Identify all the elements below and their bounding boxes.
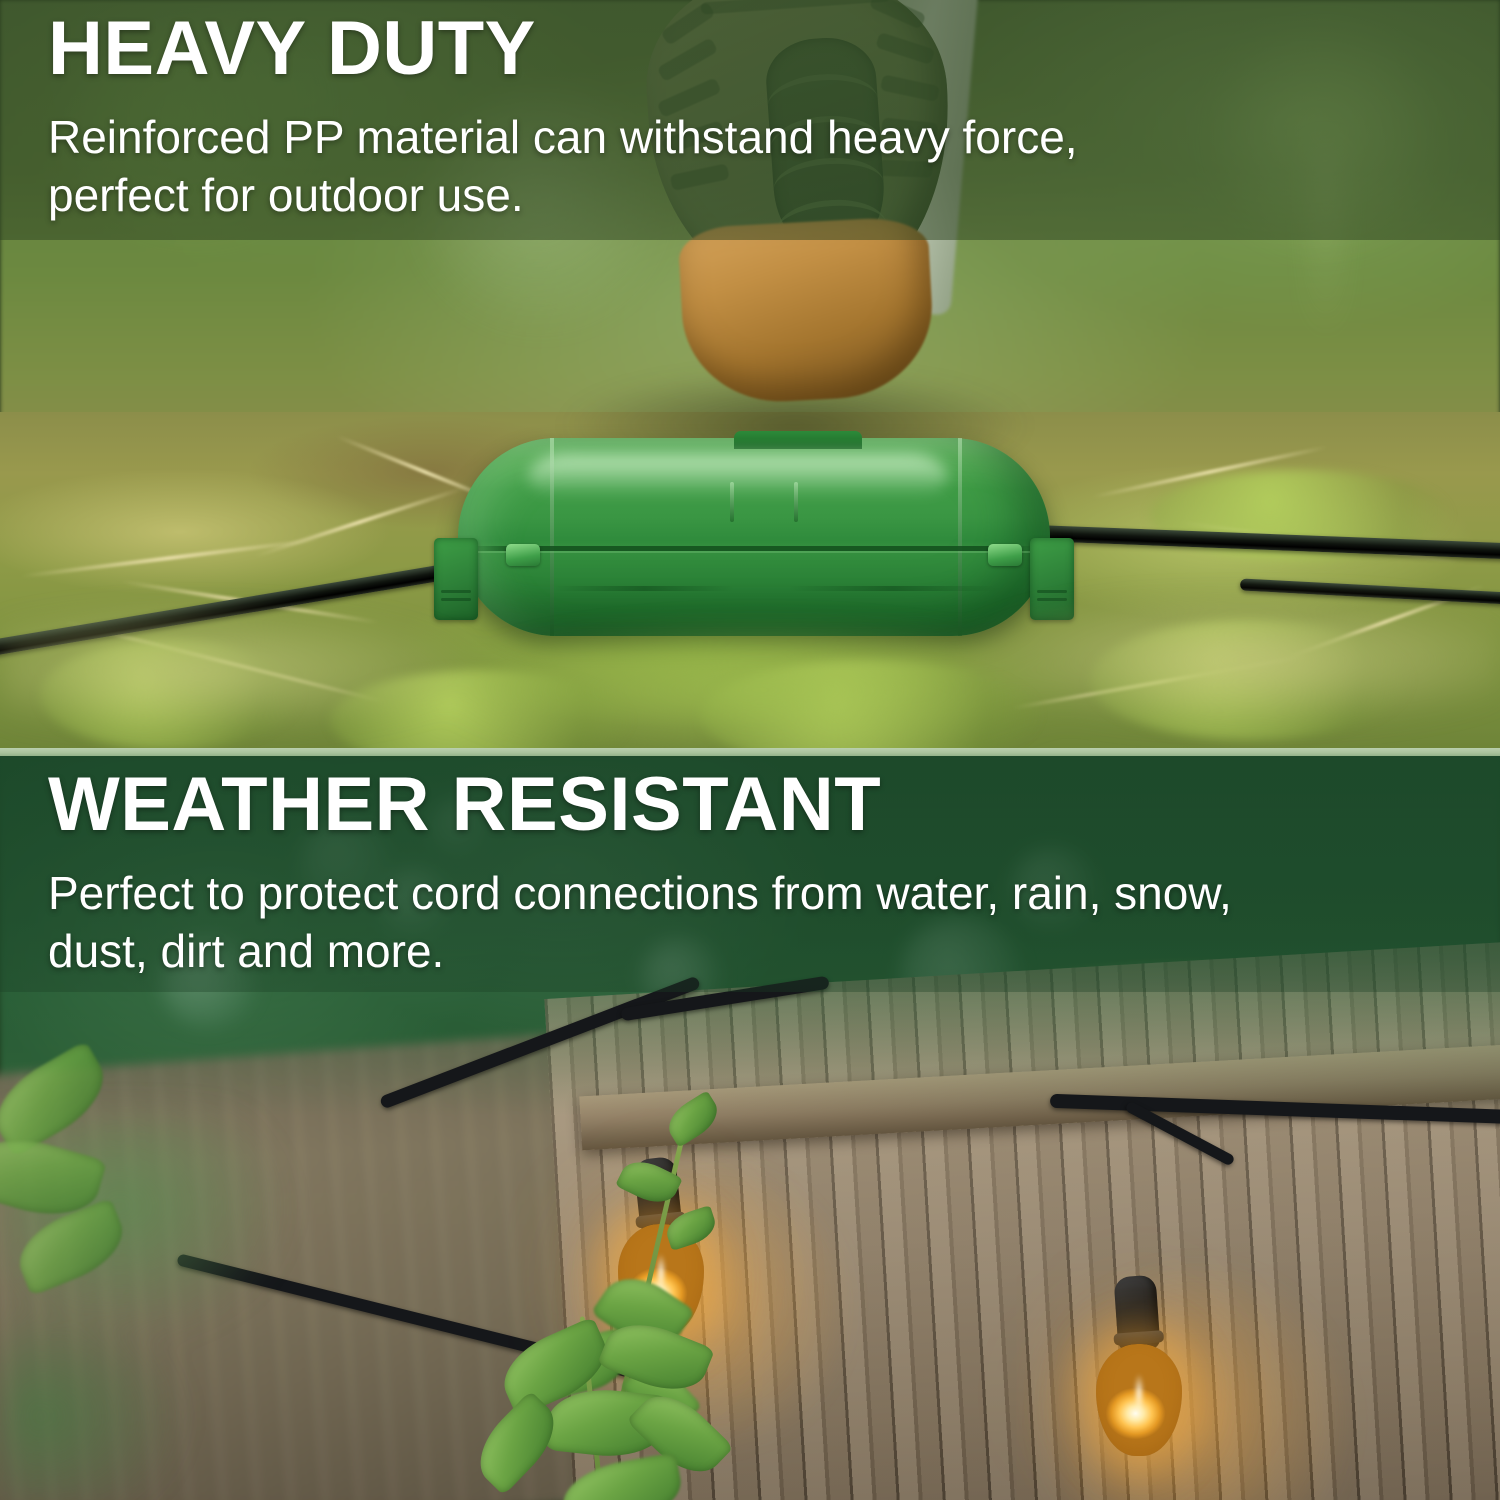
- capsule-center-seam: [470, 546, 1038, 551]
- vine-leaf: [662, 1205, 719, 1251]
- capsule-rib: [794, 482, 798, 522]
- vine-leaf: [615, 1153, 683, 1211]
- latch-line: [441, 590, 471, 593]
- vine-leaf: [661, 1090, 725, 1147]
- shrub-leaf: [597, 1311, 715, 1404]
- subcopy-heavy-duty-line-2: perfect for outdoor use.: [0, 166, 1500, 224]
- text-block-weather-resistant: WEATHER RESISTANT Perfect to protect cor…: [0, 764, 1500, 980]
- capsule-rib: [730, 482, 734, 522]
- shrub-leaf: [558, 1452, 687, 1500]
- capsule-highlight: [528, 454, 948, 498]
- shrub-foreground-bottom: [380, 1276, 800, 1500]
- capsule-latch-tab-right: [988, 544, 1022, 566]
- subcopy-weather-resistant-line-1: Perfect to protect cord connections from…: [0, 864, 1500, 922]
- headline-weather-resistant: WEATHER RESISTANT: [0, 764, 1500, 846]
- shrub-leaf: [8, 1198, 133, 1297]
- panel-heavy-duty: HEAVY DUTY Reinforced PP material can wi…: [0, 0, 1500, 748]
- capsule-lower-groove: [788, 586, 998, 591]
- latch-line: [1037, 590, 1067, 593]
- capsule-latch-tab-left: [506, 544, 540, 566]
- panel-divider: [0, 748, 1500, 756]
- product-feature-image: HEAVY DUTY Reinforced PP material can wi…: [0, 0, 1500, 1500]
- capsule-top-nub: [734, 431, 862, 449]
- panel-weather-resistant: WEATHER RESISTANT Perfect to protect cor…: [0, 756, 1500, 1500]
- boot-upper-leather: [678, 216, 937, 407]
- shrub-left-edge: [0, 1056, 230, 1356]
- bulb-socket: [1113, 1275, 1160, 1352]
- text-block-heavy-duty: HEAVY DUTY Reinforced PP material can wi…: [0, 8, 1500, 224]
- headline-heavy-duty: HEAVY DUTY: [0, 8, 1500, 90]
- foreground-grass-blur: [0, 600, 1500, 748]
- subcopy-weather-resistant-line-2: dust, dirt and more.: [0, 922, 1500, 980]
- capsule-lower-groove: [554, 586, 734, 591]
- bulb-filament: [1134, 1373, 1144, 1413]
- subcopy-heavy-duty-line-1: Reinforced PP material can withstand hea…: [0, 108, 1500, 166]
